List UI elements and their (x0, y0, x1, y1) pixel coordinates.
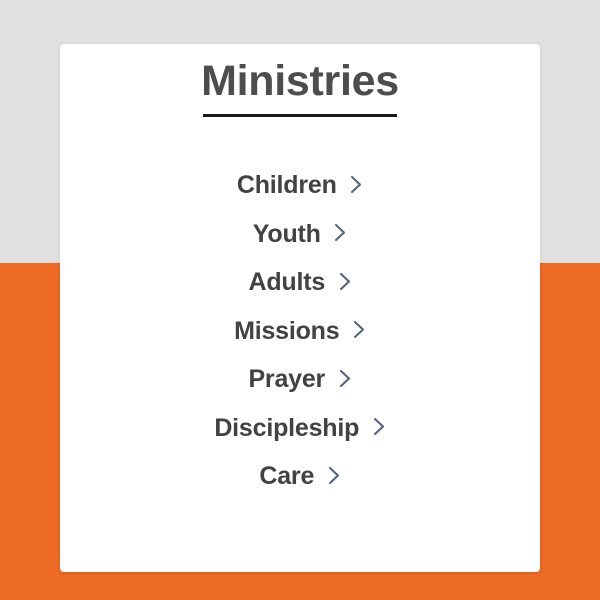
menu-item-label: Children (237, 171, 337, 199)
menu-link-discipleship[interactable]: Discipleship (214, 404, 385, 453)
menu-link-youth[interactable]: Youth (253, 210, 347, 259)
menu-item-label: Adults (248, 268, 325, 296)
menu-item-label: Missions (234, 317, 339, 345)
menu-item-label: Care (259, 462, 314, 490)
ministries-card: Ministries Children Youth (60, 44, 540, 572)
chevron-right-icon (334, 223, 347, 242)
list-item[interactable]: Care (60, 452, 540, 501)
menu-item-label: Discipleship (214, 414, 359, 442)
menu-link-prayer[interactable]: Prayer (248, 355, 351, 404)
list-item[interactable]: Discipleship (60, 404, 540, 453)
list-item[interactable]: Youth (60, 210, 540, 259)
chevron-right-icon (339, 369, 352, 388)
menu-link-missions[interactable]: Missions (234, 307, 366, 356)
menu-link-children[interactable]: Children (237, 161, 363, 210)
list-item[interactable]: Children (60, 161, 540, 210)
chevron-right-icon (350, 175, 363, 194)
page-title-wrap: Ministries (60, 54, 540, 108)
title-underline (203, 114, 397, 117)
menu-link-adults[interactable]: Adults (248, 258, 351, 307)
list-item[interactable]: Adults (60, 258, 540, 307)
menu-item-label: Prayer (248, 365, 325, 393)
chevron-right-icon (339, 272, 352, 291)
chevron-right-icon (328, 466, 341, 485)
page-root: Ministries Children Youth (0, 0, 600, 600)
menu-item-label: Youth (253, 220, 321, 248)
chevron-right-icon (373, 417, 386, 436)
page-title: Ministries (201, 54, 399, 108)
ministries-menu: Children Youth (60, 161, 540, 501)
chevron-right-icon (353, 320, 366, 339)
list-item[interactable]: Prayer (60, 355, 540, 404)
list-item[interactable]: Missions (60, 307, 540, 356)
menu-link-care[interactable]: Care (259, 452, 340, 501)
